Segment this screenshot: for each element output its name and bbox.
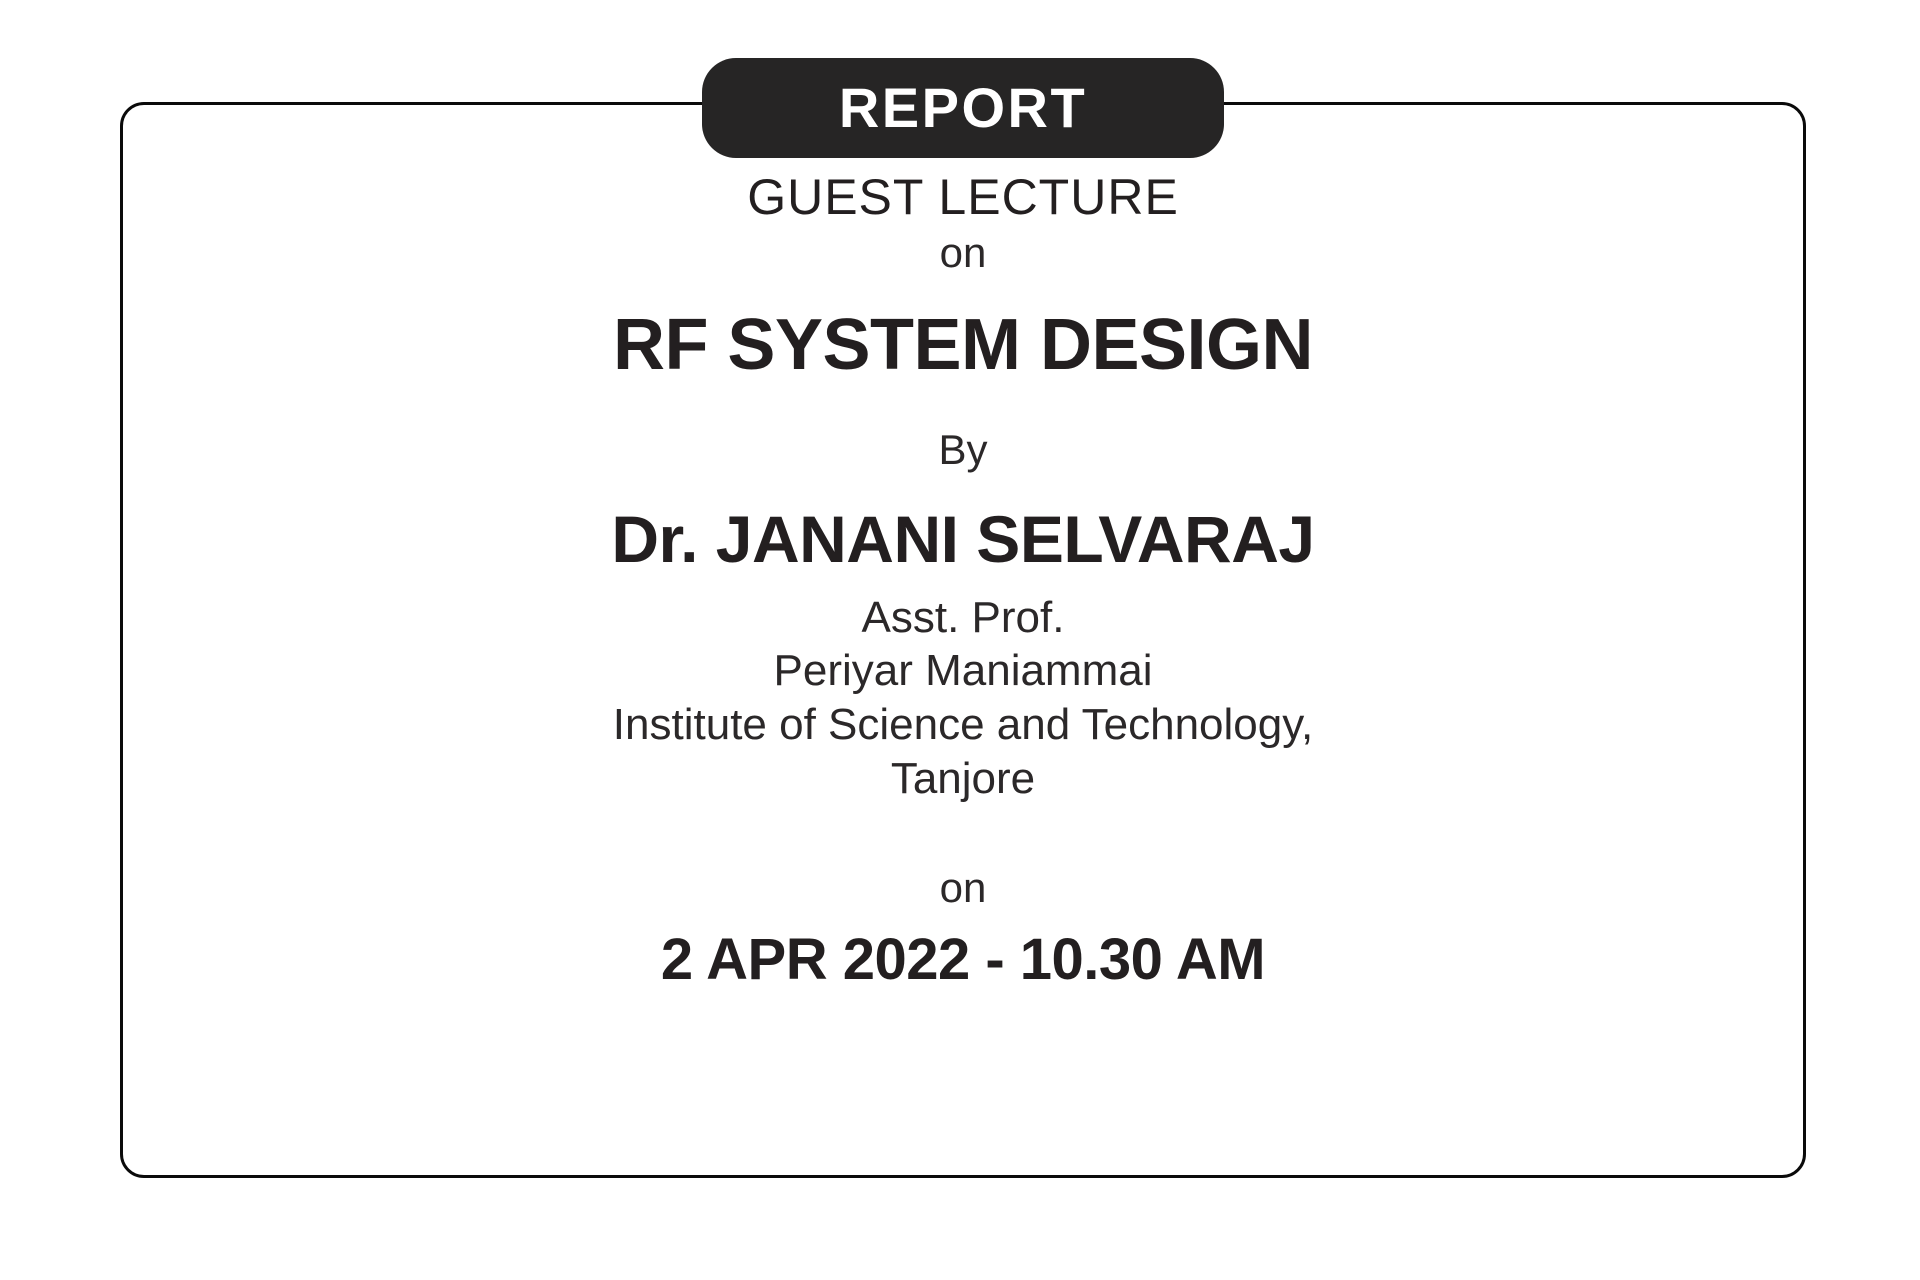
report-badge-label: REPORT	[839, 80, 1087, 136]
affiliation-line-city: Tanjore	[613, 752, 1313, 806]
affiliation-line-institute-2: Institute of Science and Technology,	[613, 698, 1313, 752]
connector-on-date: on	[940, 865, 987, 911]
report-poster: GUEST LECTURE on RF SYSTEM DESIGN By Dr.…	[0, 0, 1920, 1280]
speaker-name: Dr. JANANI SELVARAJ	[611, 505, 1314, 574]
affiliation-line-institute-1: Periyar Maniammai	[613, 644, 1313, 698]
speaker-affiliation: Asst. Prof. Periyar Maniammai Institute …	[613, 591, 1313, 806]
event-datetime: 2 APR 2022 - 10.30 AM	[661, 930, 1265, 991]
event-type-label: GUEST LECTURE	[747, 171, 1179, 224]
affiliation-line-designation: Asst. Prof.	[613, 591, 1313, 645]
lecture-title: RF SYSTEM DESIGN	[613, 308, 1313, 384]
connector-on-topic: on	[940, 230, 987, 276]
report-badge: REPORT	[702, 58, 1224, 158]
report-card-frame: GUEST LECTURE on RF SYSTEM DESIGN By Dr.…	[120, 102, 1806, 1178]
report-card-content: GUEST LECTURE on RF SYSTEM DESIGN By Dr.…	[123, 105, 1803, 1175]
by-label: By	[938, 427, 987, 473]
